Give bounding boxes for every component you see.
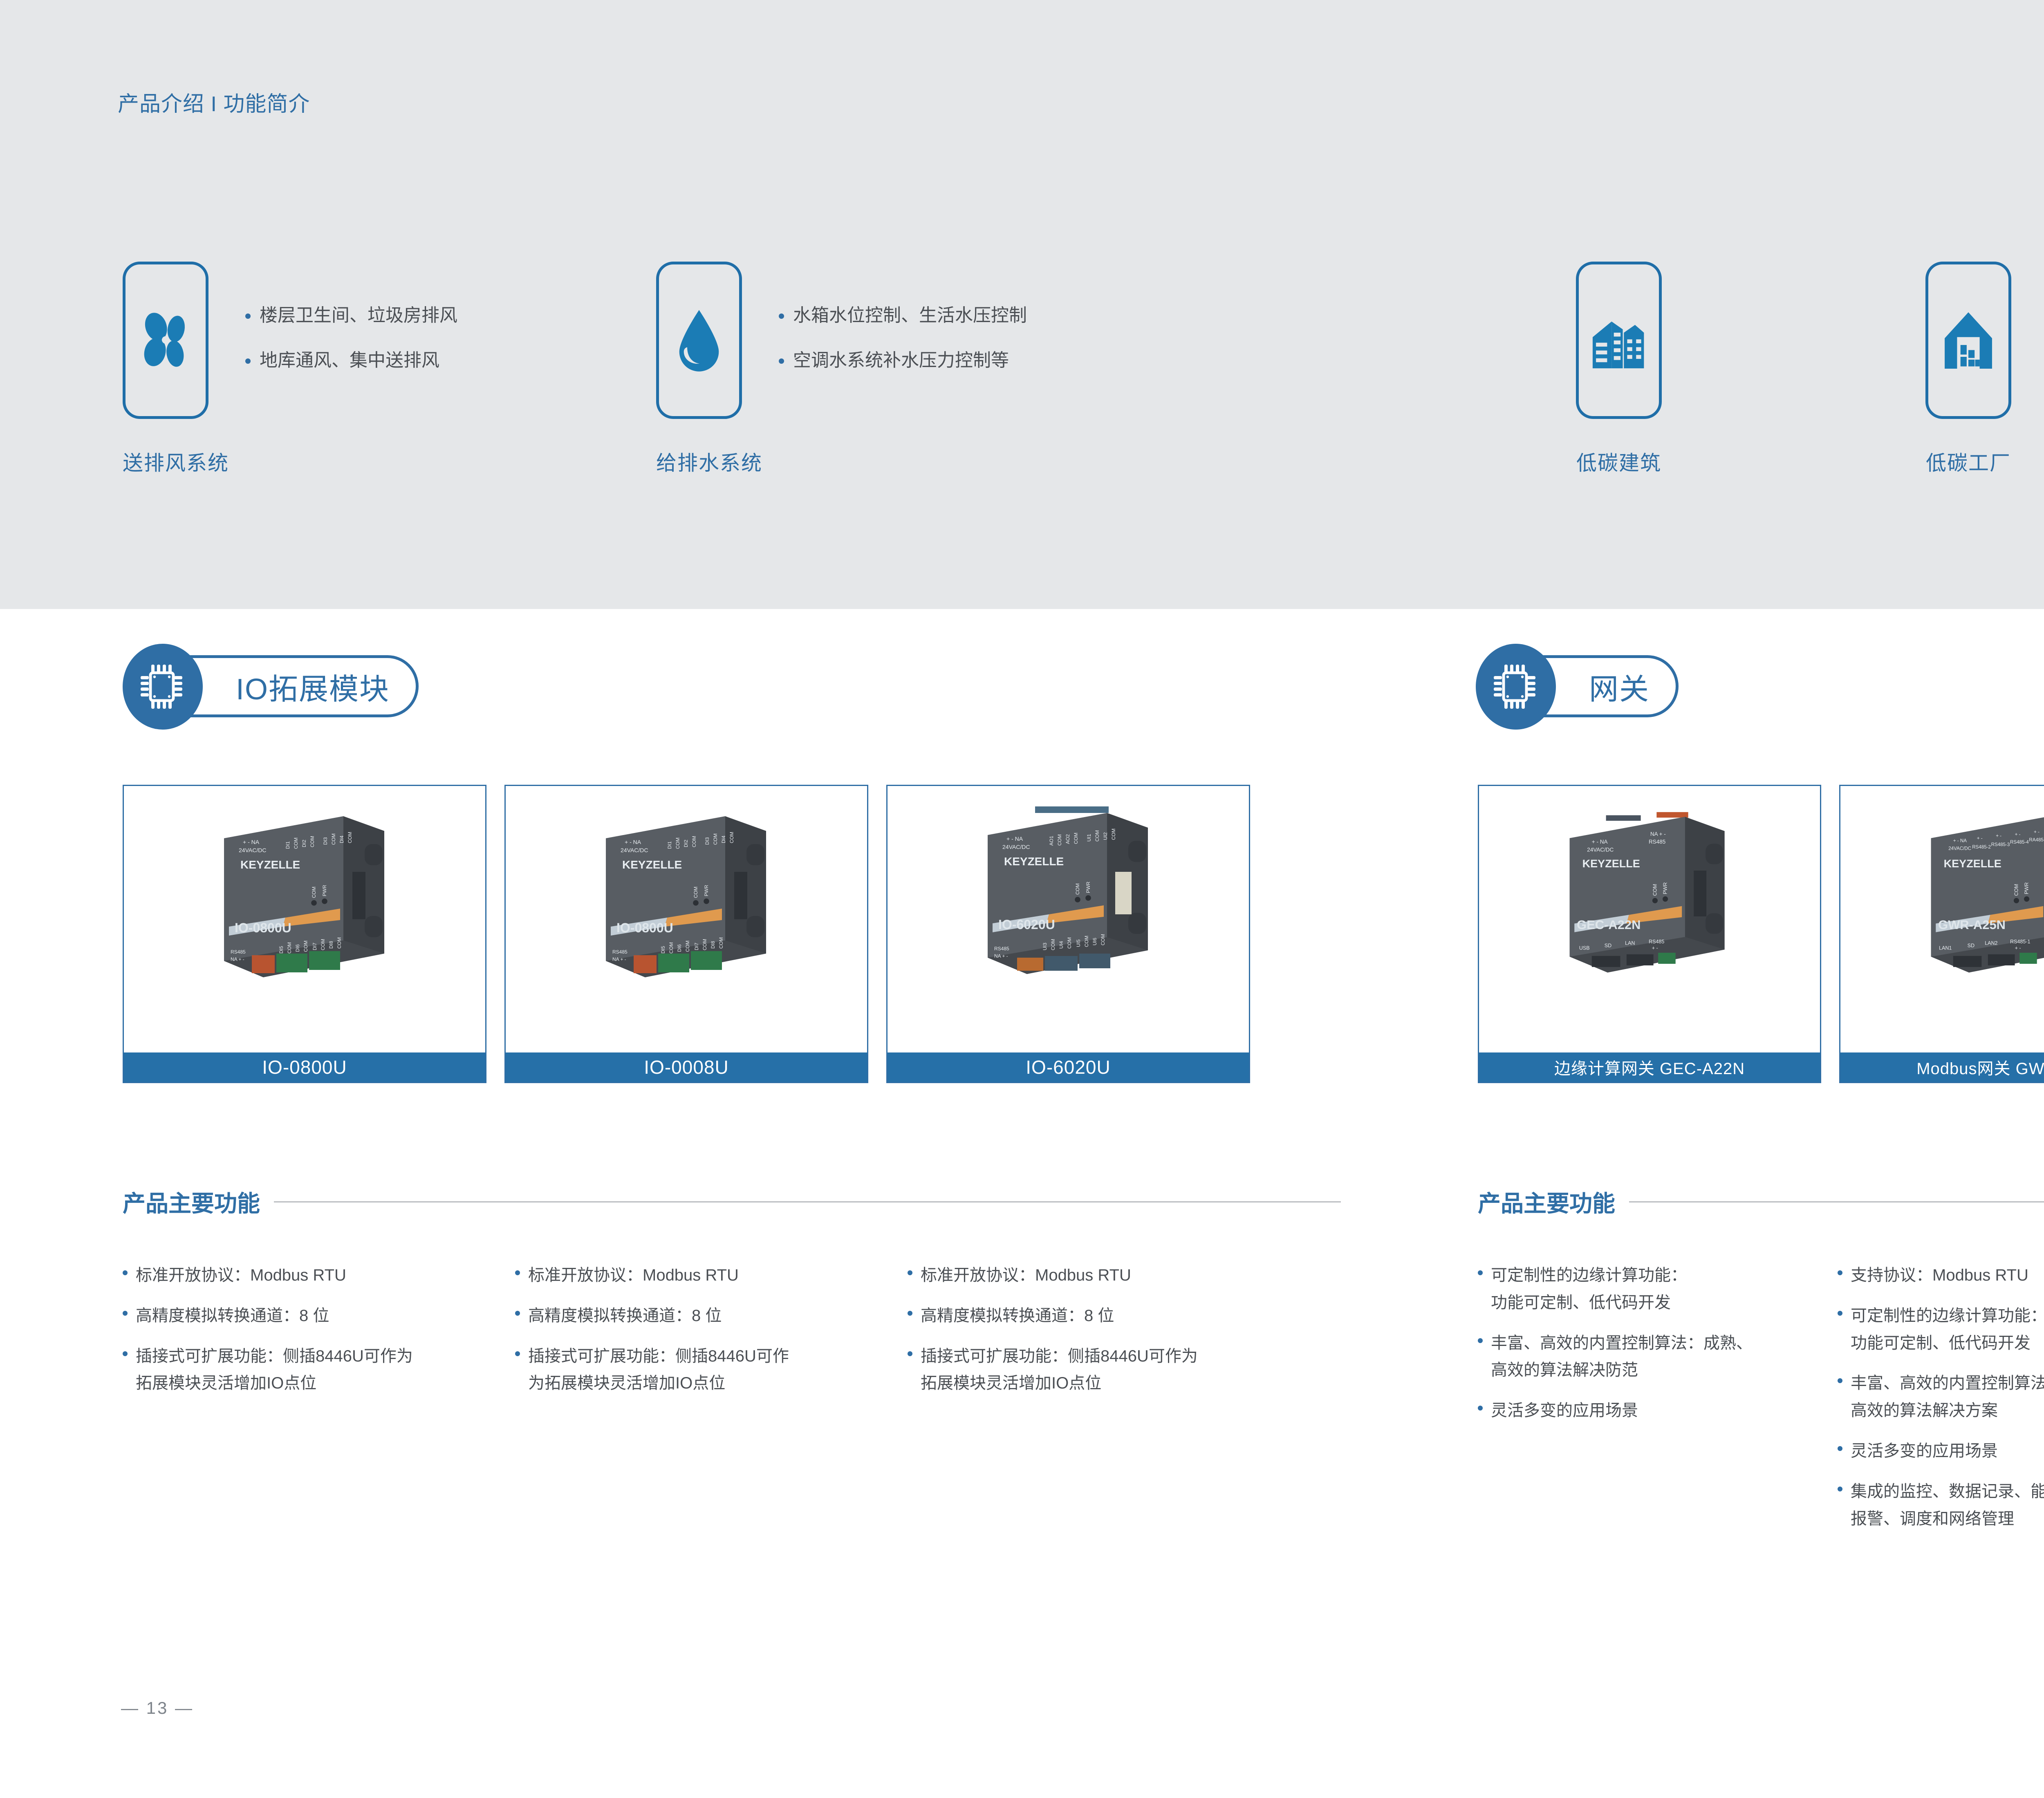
svg-text:PWR: PWR <box>1662 882 1668 894</box>
feature-item: 灵活多变的应用场景 <box>1838 1439 2044 1464</box>
product-caption: 边缘计算网关 GEC-A22N <box>1479 1052 1820 1082</box>
feature-text: 标准开放协议：Modbus RTU <box>528 1263 739 1288</box>
svg-text:NA + -: NA + - <box>231 956 244 962</box>
product-card-row-gateways: + - NA 24VAC/DC NA + - RS485 KEYZELLE GE… <box>1478 785 2044 1083</box>
device-brand: KEYZELLE <box>622 858 682 871</box>
svg-text:RS485-2: RS485-2 <box>1972 844 1991 850</box>
features-heading-io: 产品主要功能 <box>123 1185 1341 1218</box>
svg-text:24VAC/DC: 24VAC/DC <box>1002 844 1030 850</box>
feature-item: 高精度模拟转换通道：8 位 <box>908 1303 1267 1328</box>
svg-text:RS485: RS485 <box>1649 939 1664 945</box>
bullet-dot-icon <box>245 313 251 319</box>
svg-text:DI1: DI1 <box>285 841 291 849</box>
svg-text:COM: COM <box>1073 833 1079 844</box>
svg-text:DI1: DI1 <box>667 841 672 849</box>
svg-text:DI4: DI4 <box>721 835 726 843</box>
svg-text:RS485-3: RS485-3 <box>1991 842 2010 847</box>
svg-text:COM: COM <box>685 940 690 952</box>
factory-icon <box>1940 308 1997 373</box>
feature-item-continuation: 拓展模块灵活增加IO点位 <box>123 1371 482 1396</box>
svg-text:COM: COM <box>668 942 674 954</box>
product-caption: IO-0800U <box>124 1052 485 1082</box>
feature-item: 高精度模拟转换通道：8 位 <box>515 1303 875 1328</box>
section-title-text: IO拓展模块 <box>236 665 390 708</box>
feature-text: 高效的算法解决防范 <box>1491 1358 1638 1383</box>
svg-text:24VAC/DC: 24VAC/DC <box>621 847 648 853</box>
feature-text: 丰富、高效的内置控制算法：成熟、 <box>1851 1371 2044 1396</box>
bullet-dot-icon <box>1838 1270 1842 1275</box>
svg-text:DI2: DI2 <box>683 840 689 847</box>
svg-text:+ -: + - <box>2015 832 2021 837</box>
feature-text: 高效的算法解决方案 <box>1851 1398 1998 1423</box>
svg-text:COM: COM <box>1075 883 1080 895</box>
svg-text:UI4: UI4 <box>1058 941 1064 949</box>
svg-text:24VAC/DC: 24VAC/DC <box>1948 846 1971 851</box>
bullet-dot-icon <box>123 1311 128 1316</box>
feature-text: 插接式可扩展功能：侧插8446U可作为 <box>136 1344 413 1369</box>
product-card[interactable]: + - NA 24VAC/DC KEYZELLE IO-0800U RS485 … <box>123 785 486 1083</box>
svg-text:COM: COM <box>303 940 309 952</box>
svg-text:SD: SD <box>1968 943 1975 948</box>
svg-text:COM: COM <box>1100 934 1106 945</box>
divider-rule <box>274 1201 1341 1202</box>
svg-text:RS485: RS485 <box>231 949 246 955</box>
svg-text:+ - NA: + - NA <box>1006 835 1023 842</box>
feature-text: 标准开放协议：Modbus RTU <box>921 1263 1131 1288</box>
feature-item: 标准开放协议：Modbus RTU <box>123 1263 482 1288</box>
svg-text:COM: COM <box>2013 884 2019 896</box>
factory-icon-frame <box>1925 262 2011 419</box>
list-item: 地库通风、集中送排风 <box>245 351 457 370</box>
svg-text:COM: COM <box>320 939 326 950</box>
section-title-text: 网关 <box>1589 665 1650 708</box>
bullet-dot-icon <box>779 313 784 319</box>
feature-column: 标准开放协议：Modbus RTU 高精度模拟转换通道：8 位 插接式可扩展功能… <box>908 1263 1267 1411</box>
bullet-dot-icon <box>123 1351 128 1356</box>
svg-text:+ -: + - <box>2034 829 2040 835</box>
bullet-text: 水箱水位控制、生活水压控制 <box>793 306 1027 325</box>
feature-text: 灵活多变的应用场景 <box>1491 1398 1638 1423</box>
svg-text:COM: COM <box>691 836 697 847</box>
feature-text: 为拓展模块灵活增加IO点位 <box>528 1371 725 1396</box>
svg-text:COM: COM <box>675 837 681 849</box>
bullet-dot-icon <box>515 1270 520 1275</box>
svg-text:COM: COM <box>311 887 317 898</box>
product-caption: Modbus网关 GWR-A25N <box>1840 1052 2044 1082</box>
svg-text:SD: SD <box>1605 943 1611 948</box>
feature-item: 标准开放协议：Modbus RTU <box>515 1263 875 1288</box>
svg-text:LAN2: LAN2 <box>1985 940 1997 946</box>
device-brand: KEYZELLE <box>1944 858 2001 870</box>
svg-text:DI8: DI8 <box>710 941 716 949</box>
svg-text:PWR: PWR <box>704 885 709 896</box>
svg-text:DI5: DI5 <box>660 946 666 954</box>
svg-text:+ -: + - <box>1652 945 1658 951</box>
svg-text:COM: COM <box>1067 937 1072 949</box>
svg-text:COM: COM <box>1084 936 1089 947</box>
fan-icon-frame <box>123 262 208 419</box>
feature-item-continuation: 为拓展模块灵活增加IO点位 <box>515 1371 875 1396</box>
scene-block-low-carbon-factory: 低碳工厂 <box>1925 262 2011 476</box>
bullet-dot-icon <box>1838 1487 1842 1491</box>
device-brand: KEYZELLE <box>1004 855 1064 868</box>
product-card[interactable]: + - NA 24VAC/DC KEYZELLE IO-6020U RS485 … <box>886 785 1250 1083</box>
bullet-dot-icon <box>908 1311 912 1316</box>
svg-text:DI5: DI5 <box>278 946 284 954</box>
svg-text:NA + -: NA + - <box>612 956 626 962</box>
svg-text:COM: COM <box>347 832 353 843</box>
feature-item: 插接式可扩展功能：侧插8446U可作为 <box>908 1344 1267 1369</box>
bullet-dot-icon <box>1478 1338 1483 1343</box>
feature-column: 标准开放协议：Modbus RTU 高精度模拟转换通道：8 位 插接式可扩展功能… <box>123 1263 482 1411</box>
feature-item: 灵活多变的应用场景 <box>1478 1398 1813 1423</box>
svg-text:DI4: DI4 <box>339 835 345 843</box>
svg-text:COM: COM <box>713 833 718 845</box>
divider-rule <box>1629 1201 2044 1202</box>
feature-item: 可定制性的边缘计算功能： <box>1838 1303 2044 1328</box>
features-columns-io: 标准开放协议：Modbus RTU 高精度模拟转换通道：8 位 插接式可扩展功能… <box>123 1263 1267 1411</box>
svg-text:DI3: DI3 <box>704 837 710 845</box>
svg-text:+ -: + - <box>1977 836 1983 841</box>
product-photo: + - NA 24VAC/DC KEYZELLE IO-0800U RS485 … <box>506 786 867 1052</box>
features-columns-gateways: 可定制性的边缘计算功能： 功能可定制、低代码开发 丰富、高效的内置控制算法：成熟… <box>1478 1263 2044 1547</box>
feature-item: 插接式可扩展功能：侧插8446U可作 <box>515 1344 875 1369</box>
svg-text:LAN: LAN <box>1625 940 1635 946</box>
svg-text:PWR: PWR <box>322 885 327 896</box>
svg-text:COM: COM <box>693 887 699 898</box>
water-drop-icon-frame <box>656 262 742 419</box>
svg-text:UI1: UI1 <box>1086 834 1092 842</box>
svg-text:COM: COM <box>718 937 724 949</box>
product-photo: + - NA 24VAC/DC KEYZELLE IO-6020U RS485 … <box>888 786 1249 1052</box>
feature-text: 功能可定制、低代码开发 <box>1851 1331 2031 1356</box>
water-drop-icon <box>675 308 724 373</box>
scene-block-low-carbon-building: 低碳建筑 <box>1576 262 1662 476</box>
scene-label: 低碳工厂 <box>1925 447 2011 476</box>
svg-text:COM: COM <box>1111 828 1116 840</box>
device-model: IO-0800U <box>235 920 291 935</box>
feature-item: 高精度模拟转换通道：8 位 <box>123 1303 482 1328</box>
running-header-left: 产品介绍 I 功能简介 <box>118 87 310 117</box>
product-card[interactable]: + - NA 24VAC/DC KEYZELLE IO-0800U RS485 … <box>504 785 868 1083</box>
svg-text:DI2: DI2 <box>301 840 307 847</box>
product-caption: IO-6020U <box>888 1052 1249 1082</box>
svg-text:AO1: AO1 <box>1049 836 1054 846</box>
svg-text:AO2: AO2 <box>1065 834 1071 844</box>
svg-text:+ -: + - <box>2015 945 2021 951</box>
svg-text:NA + -: NA + - <box>1650 831 1666 837</box>
svg-text:NA + -: NA + - <box>994 953 1008 959</box>
svg-text:COM: COM <box>729 832 735 843</box>
svg-text:COM: COM <box>331 833 336 845</box>
feature-text: 高精度模拟转换通道：8 位 <box>528 1303 722 1328</box>
device-power-label: + - NA <box>243 839 260 845</box>
feature-item-continuation: 功能可定制、低代码开发 <box>1838 1331 2044 1356</box>
feature-item-continuation: 功能可定制、低代码开发 <box>1478 1290 1813 1315</box>
bullet-dot-icon <box>779 358 784 364</box>
svg-text:+ -: + - <box>1996 833 2001 839</box>
feature-item-continuation: 高效的算法解决方案 <box>1838 1398 2044 1423</box>
feature-item: 插接式可扩展功能：侧插8446U可作为 <box>123 1344 482 1369</box>
svg-text:+ - NA: + - NA <box>1592 839 1608 845</box>
device-brand: KEYZELLE <box>1582 858 1640 870</box>
feature-text: 拓展模块灵活增加IO点位 <box>136 1371 316 1396</box>
feature-item: 丰富、高效的内置控制算法：成熟、 <box>1838 1371 2044 1396</box>
svg-text:COM: COM <box>336 937 342 949</box>
device-model: IO-6020U <box>998 917 1055 932</box>
svg-text:DI7: DI7 <box>694 943 699 950</box>
feature-text: 可定制性的边缘计算功能： <box>1491 1263 1687 1288</box>
feature-text: 报警、调度和网络管理 <box>1851 1507 2014 1532</box>
office-building-icon <box>1588 308 1650 373</box>
chip-icon <box>1492 661 1540 712</box>
page-number-left: — 13 — <box>121 1698 194 1718</box>
application-block-water: 给排水系统 水箱水位控制、生活水压控制 空调水系统补水压力控制等 <box>656 262 762 476</box>
bullet-text: 空调水系统补水压力控制等 <box>793 351 1009 370</box>
svg-text:+ - NA: + - NA <box>1953 838 1967 843</box>
svg-text:PWR: PWR <box>2024 882 2029 894</box>
product-card-row-io: + - NA 24VAC/DC KEYZELLE IO-0800U RS485 … <box>123 785 1250 1083</box>
bullet-dot-icon <box>1838 1311 1842 1316</box>
bullet-dot-icon <box>1838 1446 1842 1451</box>
bullet-text: 楼层卫生间、垃圾房排风 <box>260 306 457 325</box>
svg-text:RS485-4: RS485-4 <box>2010 840 2029 845</box>
feature-text: 拓展模块灵活增加IO点位 <box>921 1371 1101 1396</box>
svg-text:DI8: DI8 <box>328 941 334 949</box>
svg-text:UI3: UI3 <box>1042 943 1048 950</box>
svg-text:RA485-5: RA485-5 <box>2029 837 2044 842</box>
feature-item: 支持协议：Modbus RTU <box>1838 1263 2044 1288</box>
svg-text:PWR: PWR <box>1085 882 1091 893</box>
svg-text:+ - NA: + - NA <box>625 839 641 845</box>
feature-text: 插接式可扩展功能：侧插8446U可作 <box>528 1344 789 1369</box>
feature-item: 丰富、高效的内置控制算法：成熟、 <box>1478 1331 1813 1356</box>
feature-item: 集成的监控、数据记录、能耗计量、 <box>1838 1479 2044 1504</box>
svg-text:RS485-1: RS485-1 <box>2010 939 2031 945</box>
svg-text:UI2: UI2 <box>1103 832 1108 840</box>
svg-text:UI6: UI6 <box>1092 938 1098 945</box>
svg-text:COM: COM <box>293 837 299 849</box>
feature-text: 集成的监控、数据记录、能耗计量、 <box>1851 1479 2044 1504</box>
feature-text: 标准开放协议：Modbus RTU <box>136 1263 346 1288</box>
svg-text:LAN1: LAN1 <box>1939 945 1952 951</box>
bullet-dot-icon <box>908 1351 912 1356</box>
chip-icon-badge <box>123 644 203 730</box>
svg-text:COM: COM <box>1652 884 1658 896</box>
svg-text:UI5: UI5 <box>1076 939 1081 947</box>
device-brand: KEYZELLE <box>240 858 300 871</box>
svg-text:COM: COM <box>1050 939 1056 950</box>
feature-text: 丰富、高效的内置控制算法：成熟、 <box>1491 1331 1753 1356</box>
bullet-dot-icon <box>1478 1406 1483 1411</box>
svg-text:24VAC/DC: 24VAC/DC <box>1587 847 1614 853</box>
svg-text:DI6: DI6 <box>295 944 300 952</box>
application-bullet-list: 水箱水位控制、生活水压控制 空调水系统补水压力控制等 <box>779 306 1027 371</box>
features-title: 产品主要功能 <box>123 1185 260 1218</box>
svg-text:COM: COM <box>287 942 292 954</box>
feature-column: 可定制性的边缘计算功能： 功能可定制、低代码开发 丰富、高效的内置控制算法：成熟… <box>1478 1263 1813 1547</box>
chip-icon-badge <box>1476 644 1556 730</box>
scene-label: 低碳建筑 <box>1576 447 1662 476</box>
feature-text: 插接式可扩展功能：侧插8446U可作为 <box>921 1344 1198 1369</box>
application-label: 给排水系统 <box>656 447 762 476</box>
device-model: IO-0800U <box>616 920 673 935</box>
feature-column: 支持协议：Modbus RTU 可定制性的边缘计算功能： 功能可定制、低代码开发… <box>1838 1263 2044 1547</box>
application-label: 送排风系统 <box>123 447 229 476</box>
feature-text: 可定制性的边缘计算功能： <box>1851 1303 2044 1328</box>
product-card[interactable]: + - NA 24VAC/DC NA + - RS485 KEYZELLE GE… <box>1478 785 1821 1083</box>
bullet-dot-icon <box>1478 1270 1483 1275</box>
feature-item-continuation: 高效的算法解决防范 <box>1478 1358 1813 1383</box>
product-photo: + - NA 24VAC/DC KEYZELLE IO-0800U RS485 … <box>124 786 485 1052</box>
product-caption: IO-0008U <box>506 1052 867 1082</box>
svg-text:COM: COM <box>309 836 315 847</box>
feature-text: 灵活多变的应用场景 <box>1851 1439 1998 1464</box>
svg-text:COM: COM <box>1094 830 1100 842</box>
list-item: 空调水系统补水压力控制等 <box>779 351 1027 370</box>
product-card[interactable]: + - NA 24VAC/DC + - RS485-2 + - RS485-3 … <box>1839 785 2044 1083</box>
svg-text:RS485: RS485 <box>994 946 1009 952</box>
bullet-text: 地库通风、集中送排风 <box>260 351 439 370</box>
product-photo: + - NA 24VAC/DC NA + - RS485 KEYZELLE GE… <box>1479 786 1820 1052</box>
feature-item-continuation: 拓展模块灵活增加IO点位 <box>908 1371 1267 1396</box>
device-model: GEC-A22N <box>1577 918 1641 932</box>
features-title: 产品主要功能 <box>1478 1185 1615 1218</box>
bullet-dot-icon <box>515 1351 520 1356</box>
feature-text: 高精度模拟转换通道：8 位 <box>921 1303 1114 1328</box>
list-item: 楼层卫生间、垃圾房排风 <box>245 306 457 325</box>
feature-item-continuation: 报警、调度和网络管理 <box>1838 1507 2044 1532</box>
svg-text:DI6: DI6 <box>677 944 682 952</box>
device-model: GWR-A25N <box>1938 918 2006 932</box>
product-photo: + - NA 24VAC/DC + - RS485-2 + - RS485-3 … <box>1840 786 2044 1052</box>
bullet-dot-icon <box>123 1270 128 1275</box>
feature-text: 支持协议：Modbus RTU <box>1851 1263 2028 1288</box>
feature-item: 可定制性的边缘计算功能： <box>1478 1263 1813 1288</box>
bullet-dot-icon <box>1838 1378 1842 1383</box>
brochure-page: 产品介绍 I 功能简介 产品介绍 I 功能简介 送排风系统 楼层卫生间、垃圾房排… <box>0 0 2044 1798</box>
list-item: 水箱水位控制、生活水压控制 <box>779 306 1027 325</box>
application-bullet-list: 楼层卫生间、垃圾房排风 地库通风、集中送排风 <box>245 306 457 371</box>
feature-text: 高精度模拟转换通道：8 位 <box>136 1303 329 1328</box>
device-voltage-label: 24VAC/DC <box>239 847 266 853</box>
office-building-icon-frame <box>1576 262 1662 419</box>
svg-text:COM: COM <box>1057 834 1062 846</box>
feature-column: 标准开放协议：Modbus RTU 高精度模拟转换通道：8 位 插接式可扩展功能… <box>515 1263 875 1411</box>
chip-icon <box>139 661 186 712</box>
feature-item: 标准开放协议：Modbus RTU <box>908 1263 1267 1288</box>
bullet-dot-icon <box>908 1270 912 1275</box>
bullet-dot-icon <box>515 1311 520 1316</box>
fan-icon <box>139 310 192 371</box>
svg-text:USB: USB <box>1579 945 1590 951</box>
bullet-dot-icon <box>245 358 251 364</box>
svg-text:DI7: DI7 <box>312 943 318 950</box>
feature-text: 功能可定制、低代码开发 <box>1491 1290 1671 1315</box>
application-block-ventilation: 送排风系统 楼层卫生间、垃圾房排风 地库通风、集中送排风 <box>123 262 229 476</box>
svg-text:RS485: RS485 <box>612 949 628 955</box>
features-heading-gateways: 产品主要功能 <box>1478 1185 2044 1218</box>
svg-text:COM: COM <box>702 939 708 950</box>
svg-text:RS485: RS485 <box>1649 839 1665 845</box>
svg-text:DI3: DI3 <box>323 837 328 845</box>
